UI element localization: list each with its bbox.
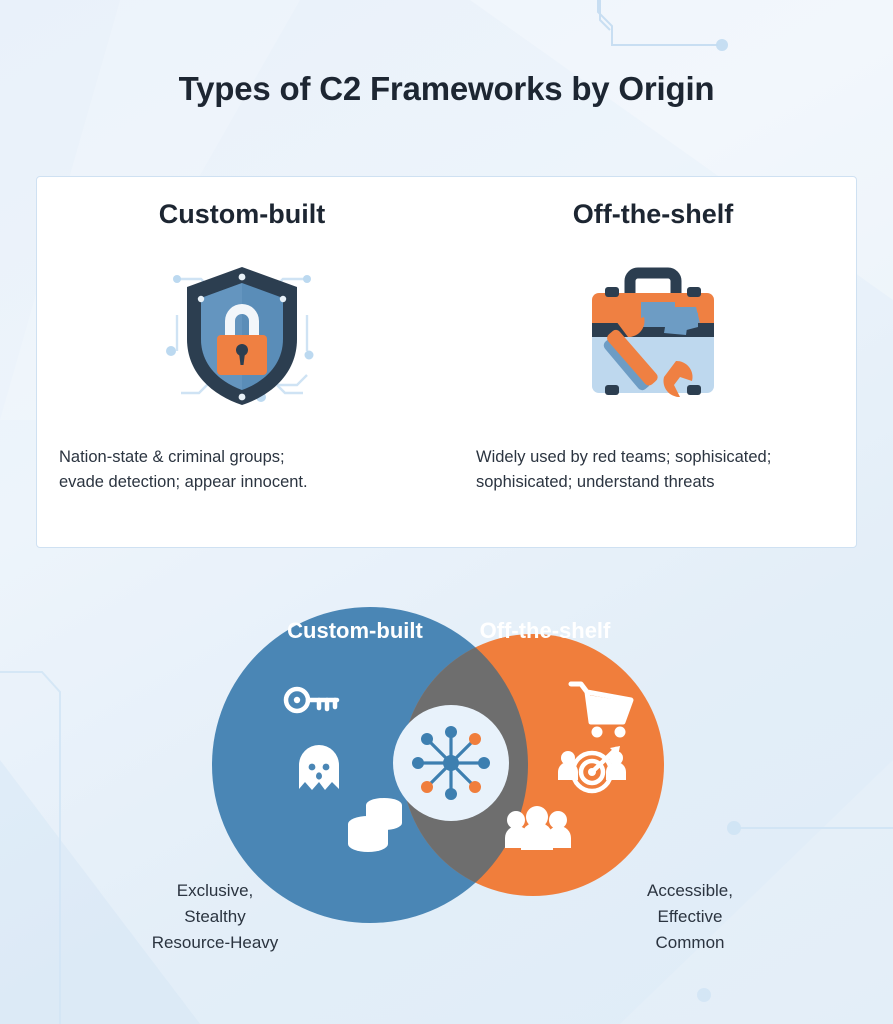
venn-caption-right: Accessible, Effective Common — [590, 878, 790, 956]
shield-lock-icon — [157, 255, 327, 415]
column-off-the-shelf: Off-the-shelf — [448, 177, 858, 549]
network-hub-icon — [412, 726, 490, 800]
venn-label-right: Off-the-shelf — [480, 618, 611, 643]
toolbox-icon — [568, 255, 738, 415]
column-custom-built: Custom-built — [37, 177, 447, 549]
column-description-custom-built: Nation-state & criminal groups; evade de… — [59, 445, 435, 495]
comparison-card: Custom-built — [36, 176, 857, 548]
column-heading-custom-built: Custom-built — [37, 199, 447, 230]
venn-diagram: Custom-built Off-the-shelf — [0, 560, 893, 1000]
page-title: Types of C2 Frameworks by Origin — [0, 70, 893, 108]
venn-caption-left: Exclusive, Stealthy Resource-Heavy — [105, 878, 325, 956]
people-group-icon — [505, 806, 571, 850]
column-heading-off-the-shelf: Off-the-shelf — [448, 199, 858, 230]
column-description-off-the-shelf: Widely used by red teams; sophisicated; … — [476, 445, 852, 495]
infographic-page: Types of C2 Frameworks by Origin Custom-… — [0, 0, 893, 1024]
venn-label-left: Custom-built — [287, 618, 423, 643]
